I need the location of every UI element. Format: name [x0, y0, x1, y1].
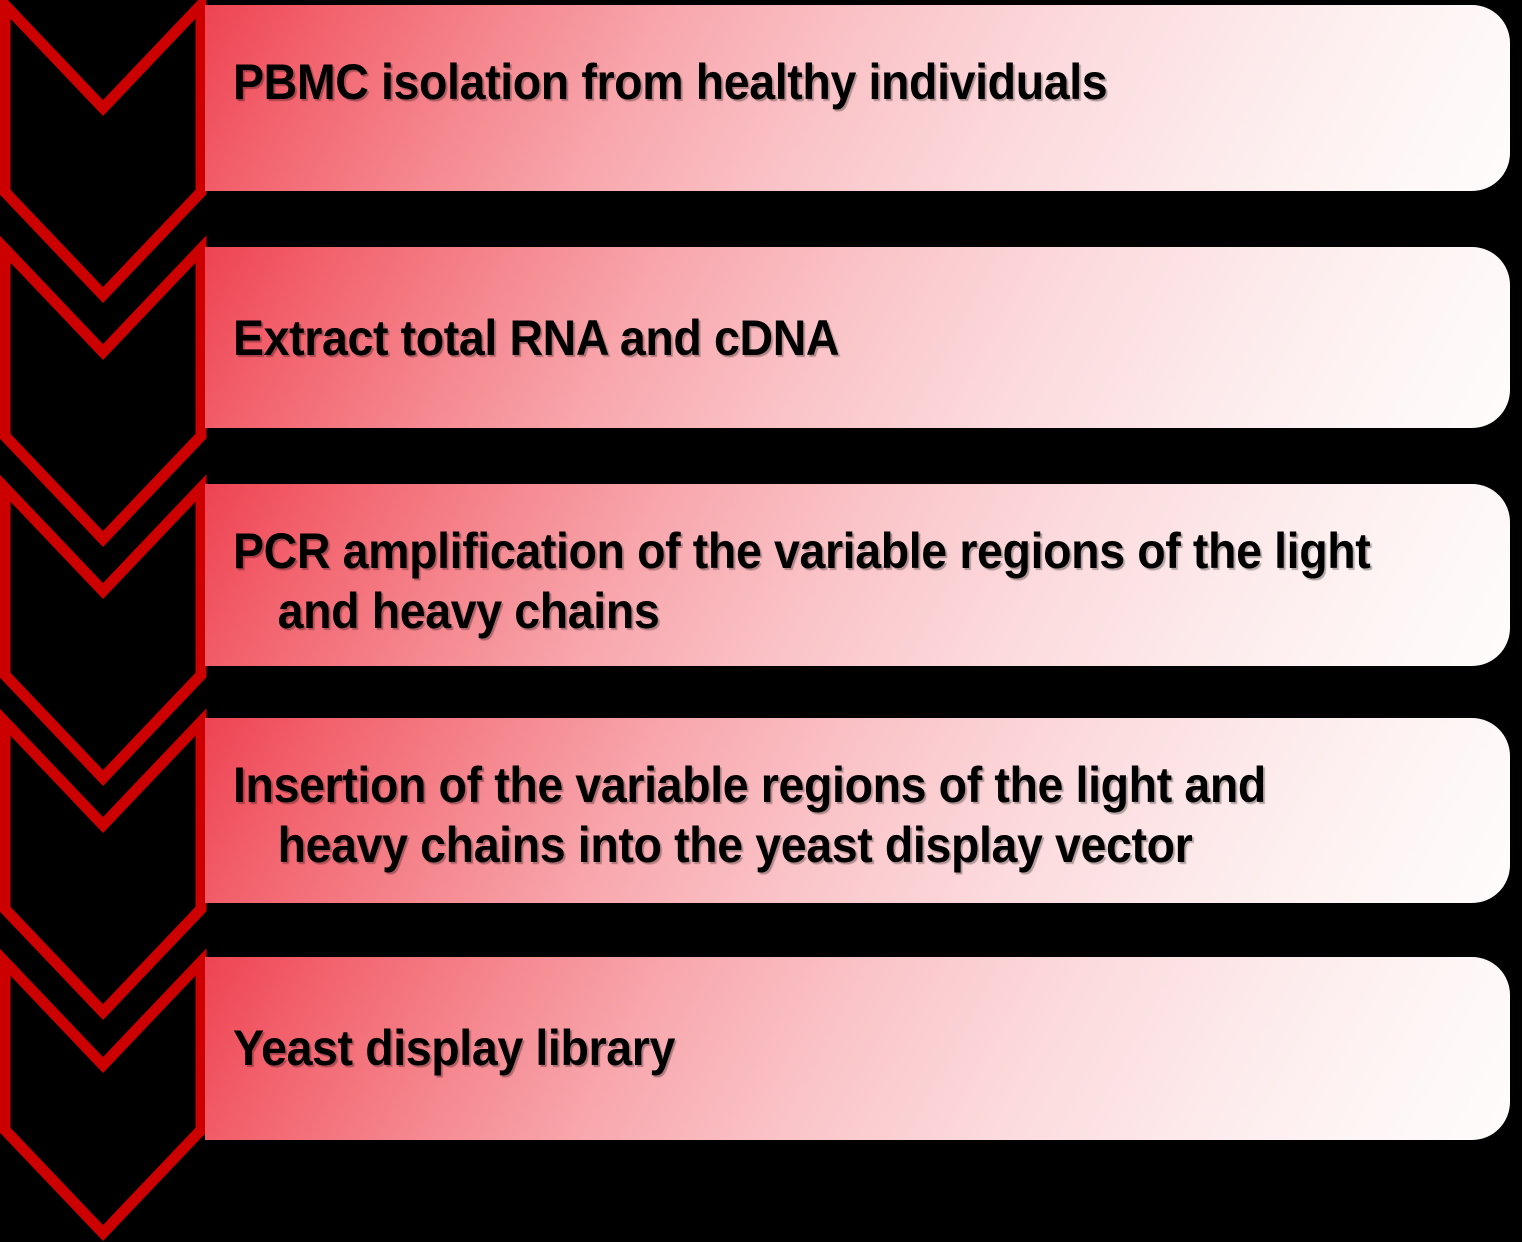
- step-box-5[interactable]: Yeast display library: [205, 957, 1510, 1140]
- step-label-1: PBMC isolation from healthy individuals: [233, 53, 1383, 113]
- step-box-3[interactable]: PCR amplification of the variable region…: [205, 484, 1510, 666]
- step-label-5: Yeast display library: [233, 1019, 1383, 1079]
- chevron-arrow-1: [5, 5, 201, 295]
- step-box-1[interactable]: PBMC isolation from healthy individuals: [205, 5, 1510, 191]
- step-box-4[interactable]: Insertion of the variable regions of the…: [205, 718, 1510, 903]
- chevron-arrow-column: [0, 0, 212, 1242]
- process-flow-diagram: PBMC isolation from healthy individuals …: [0, 0, 1522, 1242]
- chevron-arrow-stack-svg: [0, 0, 212, 1242]
- step-label-4: Insertion of the variable regions of the…: [233, 756, 1383, 875]
- step-label-2: Extract total RNA and cDNA: [233, 309, 1383, 369]
- step-label-3: PCR amplification of the variable region…: [233, 522, 1383, 641]
- chevron-arrow-4: [5, 722, 201, 1012]
- chevron-arrow-5: [5, 962, 201, 1233]
- step-box-2[interactable]: Extract total RNA and cDNA: [205, 247, 1510, 428]
